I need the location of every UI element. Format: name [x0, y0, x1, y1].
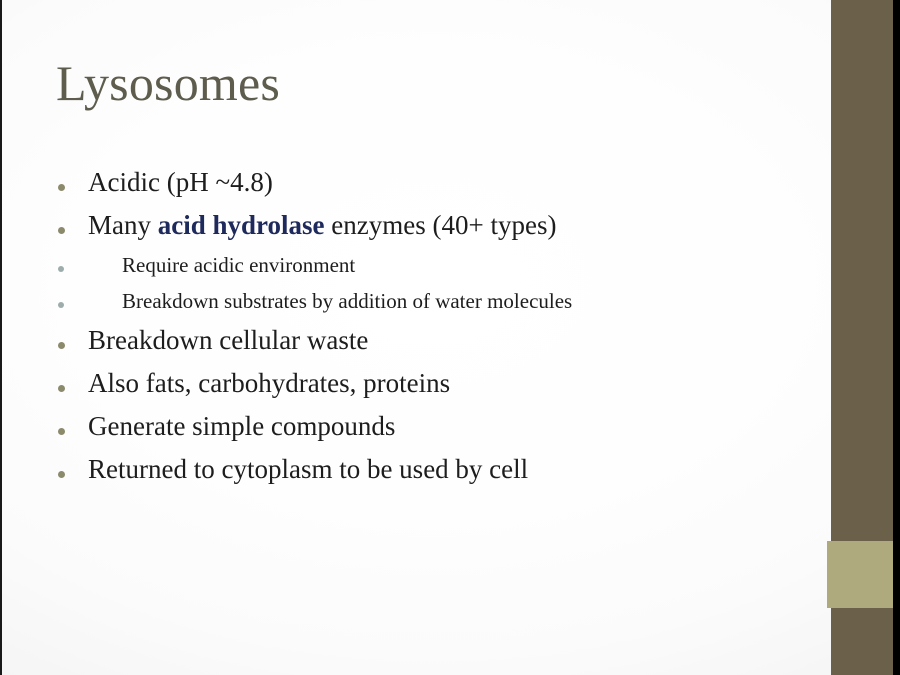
bullet-dot-icon	[58, 184, 65, 191]
bullet-text: Returned to cytoplasm to be used by cell	[88, 448, 528, 491]
slide-right-band-accent-block	[827, 541, 893, 608]
bullet-dot-icon	[58, 266, 64, 272]
slide-bullet-list: Acidic (pH ~4.8)Many acid hydrolase enzy…	[58, 161, 798, 491]
bullet-dot-icon	[58, 428, 65, 435]
bullet-marker-icon	[58, 218, 88, 234]
bullet-item: Also fats, carbohydrates, proteins	[58, 362, 798, 405]
bullet-dot-icon	[58, 385, 65, 392]
bullet-text: Many acid hydrolase enzymes (40+ types)	[88, 204, 556, 247]
bullet-marker-icon	[58, 295, 122, 308]
bullet-item: Many acid hydrolase enzymes (40+ types)	[58, 204, 798, 247]
bullet-marker-icon	[58, 333, 88, 349]
bullet-dot-icon	[58, 302, 64, 308]
bullet-text-segment: Require acidic environment	[122, 253, 355, 277]
bullet-text-segment: Also fats, carbohydrates, proteins	[88, 368, 450, 398]
slide-right-edge-border	[893, 0, 900, 675]
bullet-dot-icon	[58, 342, 65, 349]
bullet-item: Breakdown substrates by addition of wate…	[58, 283, 798, 319]
bullet-text-segment: Returned to cytoplasm to be used by cell	[88, 454, 528, 484]
bullet-text-segment: Breakdown substrates by addition of wate…	[122, 289, 572, 313]
bullet-text-segment: enzymes (40+ types)	[325, 210, 557, 240]
bullet-text-segment: Acidic (pH ~4.8)	[88, 167, 273, 197]
bullet-marker-icon	[58, 175, 88, 191]
bullet-text-segment: Many	[88, 210, 158, 240]
slide-title: Lysosomes	[56, 57, 280, 110]
bullet-text: Breakdown substrates by addition of wate…	[122, 283, 572, 319]
bullet-item: Returned to cytoplasm to be used by cell	[58, 448, 798, 491]
bullet-text-segment: Breakdown cellular waste	[88, 325, 368, 355]
bullet-text-segment: Generate simple compounds	[88, 411, 395, 441]
bullet-text-emphasis: acid hydrolase	[158, 210, 325, 240]
bullet-marker-icon	[58, 462, 88, 478]
bullet-text: Require acidic environment	[122, 247, 355, 283]
bullet-dot-icon	[58, 471, 65, 478]
slide-left-edge-rule	[0, 0, 2, 675]
presentation-slide: Lysosomes Acidic (pH ~4.8)Many acid hydr…	[0, 0, 900, 675]
bullet-marker-icon	[58, 376, 88, 392]
bullet-text: Breakdown cellular waste	[88, 319, 368, 362]
bullet-item: Breakdown cellular waste	[58, 319, 798, 362]
bullet-text: Acidic (pH ~4.8)	[88, 161, 273, 204]
bullet-marker-icon	[58, 259, 122, 272]
bullet-dot-icon	[58, 227, 65, 234]
bullet-item: Require acidic environment	[58, 247, 798, 283]
bullet-item: Acidic (pH ~4.8)	[58, 161, 798, 204]
bullet-marker-icon	[58, 419, 88, 435]
bullet-item: Generate simple compounds	[58, 405, 798, 448]
bullet-text: Generate simple compounds	[88, 405, 395, 448]
bullet-text: Also fats, carbohydrates, proteins	[88, 362, 450, 405]
